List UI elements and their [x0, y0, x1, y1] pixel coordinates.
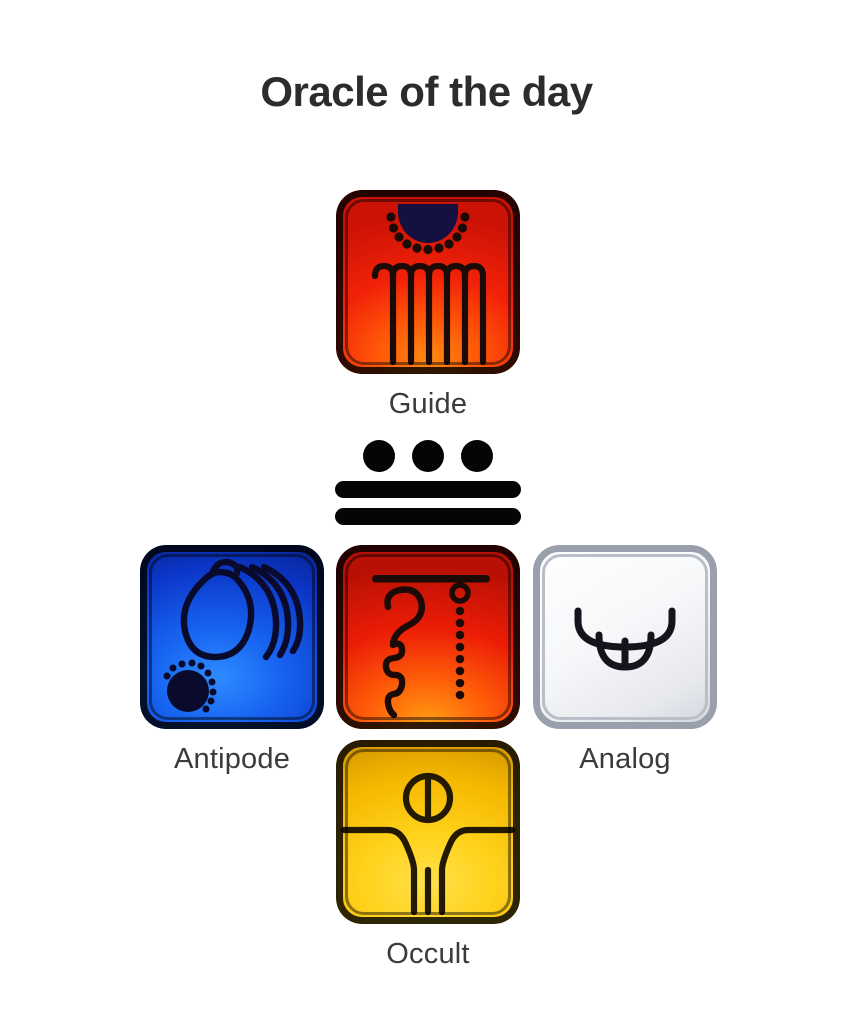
oracle-page: Oracle of the day: [0, 0, 853, 1023]
antipode-label: Antipode: [134, 743, 330, 776]
occult-label: Occult: [330, 938, 526, 971]
page-title: Oracle of the day: [0, 68, 853, 116]
oracle-slot-antipode[interactable]: Antipode: [134, 545, 330, 776]
kin-bar: [335, 481, 521, 498]
kin-number: [330, 440, 526, 525]
kin-dot: [412, 440, 444, 472]
destiny-red-glyph: [336, 545, 520, 729]
antipode-blue-glyph: [140, 545, 324, 729]
analog-white-glyph: [533, 545, 717, 729]
kin-bar: [335, 508, 521, 525]
guide-red-glyph: [336, 190, 520, 374]
antipode-tile[interactable]: [140, 545, 324, 729]
occult-tile[interactable]: [336, 740, 520, 924]
oracle-slot-destiny[interactable]: [330, 545, 526, 729]
occult-yellow-glyph: [336, 740, 520, 924]
oracle-slot-guide[interactable]: Guide: [330, 190, 526, 421]
analog-label: Analog: [527, 743, 723, 776]
analog-tile[interactable]: [533, 545, 717, 729]
oracle-slot-occult[interactable]: Occult: [330, 740, 526, 971]
kin-dot: [461, 440, 493, 472]
guide-tile[interactable]: [336, 190, 520, 374]
kin-dots: [330, 440, 526, 472]
guide-label: Guide: [330, 388, 526, 421]
kin-dot: [363, 440, 395, 472]
oracle-slot-analog[interactable]: Analog: [527, 545, 723, 776]
oracle-cross: Guide: [0, 190, 853, 1000]
destiny-tile[interactable]: [336, 545, 520, 729]
